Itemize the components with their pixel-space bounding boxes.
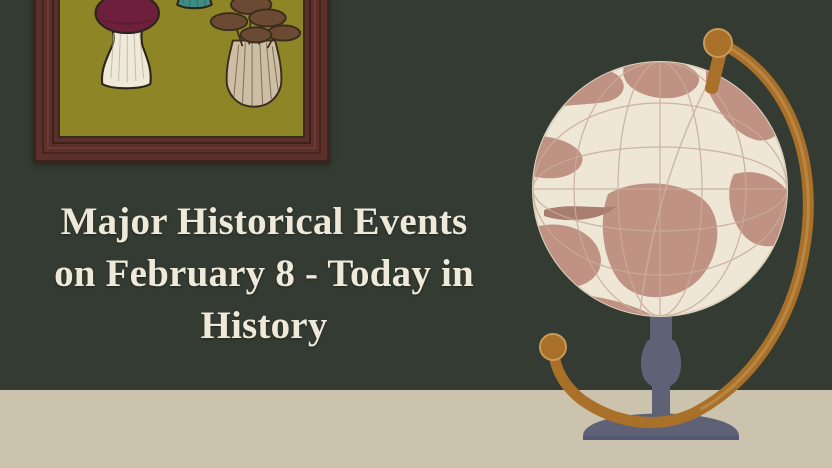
headline-line-1: Major Historical Events [0, 196, 528, 248]
framed-mushroom-picture [33, 0, 330, 163]
mushroom-illustration [60, 0, 303, 136]
page-title: Major Historical Events on February 8 - … [0, 196, 528, 352]
frame-mat [58, 0, 305, 138]
globe-sphere [520, 59, 804, 331]
headline-line-2: on February 8 - Today in [0, 248, 528, 300]
desk-globe [520, 14, 832, 460]
honey-mushroom-cluster [211, 0, 300, 107]
headline-line-3: History [0, 300, 528, 352]
porcini-mushroom [96, 0, 159, 88]
teal-mushroom [177, 0, 212, 8]
banner-image: Major Historical Events on February 8 - … [0, 0, 832, 468]
globe-ring-pivot-knob [540, 334, 566, 360]
